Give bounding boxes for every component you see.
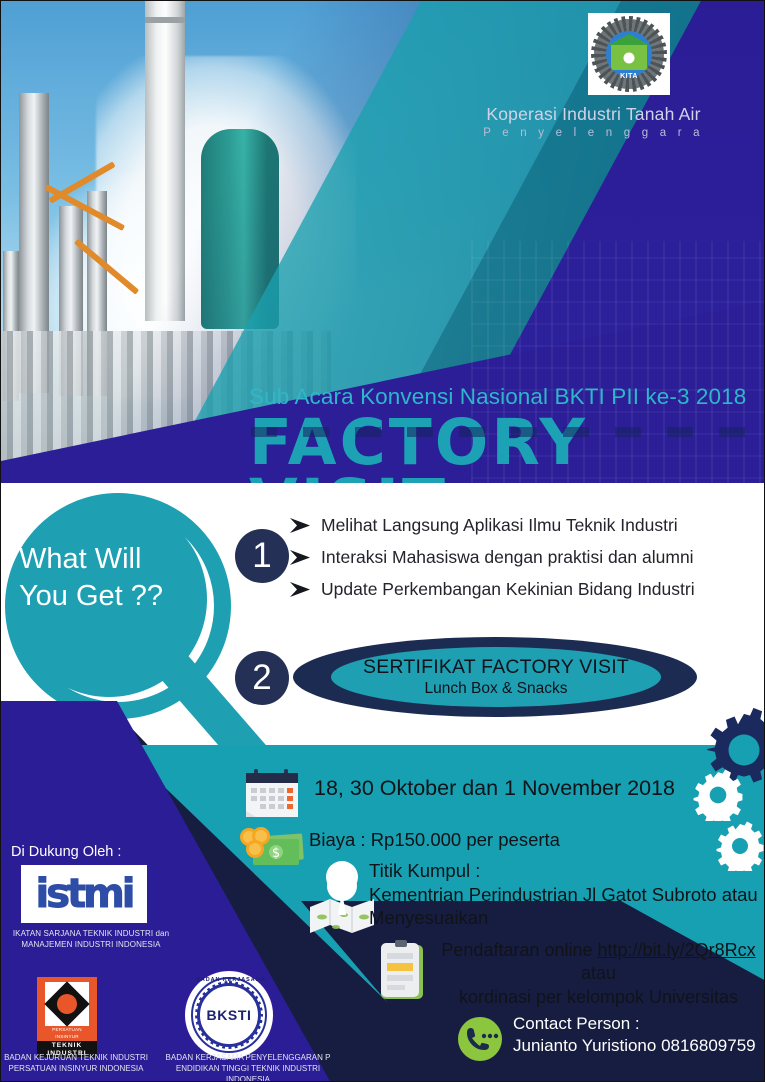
event-price: Biaya : Rp150.000 per peserta bbox=[309, 829, 560, 851]
question-line-1: What Will bbox=[19, 541, 211, 578]
supported-by-label: Di Dukung Oleh : bbox=[11, 844, 121, 860]
what-will-you-get-text: What Will You Get ?? bbox=[7, 541, 211, 615]
pii-tag-line-1: TEKNIK bbox=[37, 1042, 97, 1050]
certificate-title: SERTIFIKAT FACTORY VISIT bbox=[363, 656, 629, 679]
pii-diamond-emblem bbox=[45, 982, 89, 1026]
registration-info: Pendaftaran online http://bit.ly/2Qr8Rcx… bbox=[431, 939, 765, 1009]
logo-center-dot bbox=[624, 52, 635, 63]
phone-icon[interactable] bbox=[457, 1016, 503, 1062]
arrow-bullet-icon bbox=[289, 581, 313, 598]
registration-or: atau bbox=[431, 962, 765, 985]
bksti-logo: BADAN KERJASAMA BKSTI bbox=[183, 969, 275, 1061]
contact-person-value: Junianto Yuristiono 0816809759 bbox=[513, 1035, 765, 1057]
list-item: Melihat Langsung Aplikasi Ilmu Teknik In… bbox=[289, 509, 759, 541]
organizer-name: Koperasi Industri Tanah Air bbox=[421, 104, 765, 125]
pii-caption-line-2: PERSATUAN INSINYUR INDONESIA bbox=[1, 1064, 151, 1075]
registration-link[interactable]: http://bit.ly/2Qr8Rcx bbox=[598, 940, 756, 960]
list-item-label: Interaksi Mahasiswa dengan praktisi dan … bbox=[321, 547, 694, 568]
poster-root: KITA Koperasi Industri Tanah Air P e n y… bbox=[0, 0, 765, 1082]
list-item-label: Update Perkembangan Kekinian Bidang Indu… bbox=[321, 579, 695, 600]
bksti-caption-line-1: BADAN KERJASAMA PENYELENGGARAN P bbox=[153, 1053, 343, 1064]
registration-alternative: kordinasi per kelompok Universitas bbox=[431, 986, 765, 1009]
certificate-subtitle: Lunch Box & Snacks bbox=[424, 680, 567, 698]
pii-inner-diamond bbox=[44, 981, 89, 1026]
pii-caption: BADAN KEJURUAN TEKNIK INDUSTRI PERSATUAN… bbox=[1, 1053, 151, 1075]
pii-logo: PERSATUAN INSINYUR INDONESIA TEKNIK INDU… bbox=[37, 977, 97, 1057]
pii-small-line-2: INSINYUR bbox=[37, 1034, 97, 1041]
kita-cooperative-logo: KITA bbox=[588, 13, 670, 95]
istmi-caption-line-1: IKATAN SARJANA TEKNIK INDUSTRI dan bbox=[1, 929, 181, 940]
meeting-point-line-1: Kementrian Perindustrian Jl Gatot Subrot… bbox=[369, 883, 765, 907]
event-date: 18, 30 Oktober dan 1 November 2018 bbox=[314, 776, 675, 801]
benefits-list: Melihat Langsung Aplikasi Ilmu Teknik In… bbox=[289, 509, 759, 605]
logo-gear-ring: KITA bbox=[594, 19, 664, 89]
contact-person: Contact Person : Junianto Yuristiono 081… bbox=[513, 1013, 765, 1058]
money-icon: $ bbox=[237, 823, 305, 871]
svg-text:$: $ bbox=[272, 846, 280, 861]
list-item-label: Melihat Langsung Aplikasi Ilmu Teknik In… bbox=[321, 515, 678, 536]
contact-person-label: Contact Person : bbox=[513, 1013, 765, 1035]
registration-prefix: Pendaftaran online bbox=[441, 940, 597, 960]
meeting-point-label: Titik Kumpul : bbox=[369, 859, 765, 883]
clipboard-icon bbox=[379, 939, 425, 1001]
logo-inner-text: KITA bbox=[620, 73, 638, 80]
organizer-role: P e n y e l e n g g a r a bbox=[421, 127, 765, 139]
step-number-1: 1 bbox=[235, 529, 289, 583]
pii-caption-line-1: BADAN KEJURUAN TEKNIK INDUSTRI bbox=[1, 1053, 151, 1064]
meeting-point-line-2: Menyesuaikan bbox=[369, 906, 765, 930]
istmi-logo-text: istmi bbox=[35, 874, 132, 914]
bksti-caption: BADAN KERJASAMA PENYELENGGARAN P ENDIDIK… bbox=[153, 1053, 343, 1082]
istmi-logo: istmi bbox=[21, 865, 147, 923]
list-item: Interaksi Mahasiswa dengan praktisi dan … bbox=[289, 541, 759, 573]
bksti-logo-text: BKSTI bbox=[207, 1007, 252, 1023]
pii-small-line-1: PERSATUAN bbox=[37, 1027, 97, 1034]
gear-icon bbox=[692, 769, 744, 821]
bksti-arc-text: BADAN KERJASAMA bbox=[185, 977, 277, 983]
list-item: Update Perkembangan Kekinian Bidang Indu… bbox=[289, 573, 759, 605]
map-pin-icon bbox=[306, 859, 378, 933]
meeting-point: Titik Kumpul : Kementrian Perindustrian … bbox=[369, 859, 765, 930]
arrow-bullet-icon bbox=[289, 517, 313, 534]
calendar-icon bbox=[244, 767, 300, 821]
bksti-caption-line-2: ENDIDIKAN TINGGI TEKNIK INDUSTRI INDONES… bbox=[153, 1064, 343, 1082]
istmi-caption-line-2: MANAJEMEN INDUSTRI INDONESIA bbox=[1, 940, 181, 951]
certificate-ellipse-inner: SERTIFIKAT FACTORY VISIT Lunch Box & Sna… bbox=[331, 647, 661, 707]
question-line-2: You Get ?? bbox=[19, 578, 211, 615]
step-number-2: 2 bbox=[235, 651, 289, 705]
arrow-bullet-icon bbox=[289, 549, 313, 566]
istmi-caption: IKATAN SARJANA TEKNIK INDUSTRI dan MANAJ… bbox=[1, 929, 181, 951]
